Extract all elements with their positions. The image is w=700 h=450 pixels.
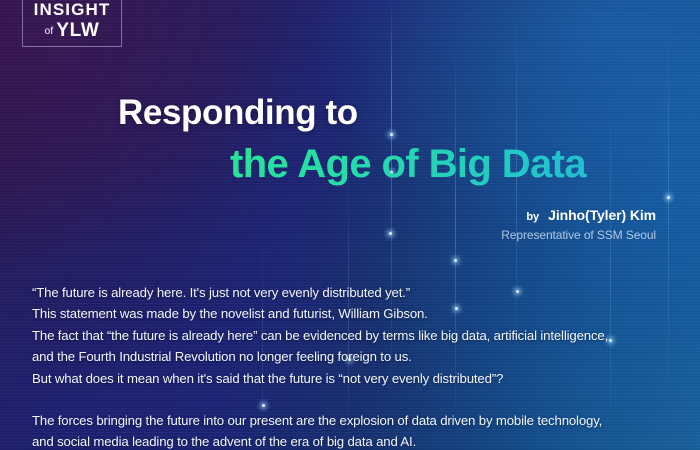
body-line: This statement was made by the novelist … (32, 303, 677, 324)
article-body: “The future is already here. It's just n… (32, 282, 677, 450)
poster-canvas: INSIGHT ofYLW Responding to the Age of B… (0, 0, 700, 450)
body-paragraph: “The future is already here. It's just n… (32, 282, 677, 389)
glow-node-icon (667, 196, 670, 199)
body-line: The fact that “the future is already her… (32, 325, 677, 346)
body-paragraph: The forces bringing the future into our … (32, 410, 677, 450)
title-line-1: Responding to (118, 92, 678, 134)
byline: byJinho(Tyler) Kim Representative of SSM… (501, 207, 656, 242)
title-line-2: the Age of Big Data (230, 140, 678, 188)
glow-node-icon (389, 232, 392, 235)
glow-node-icon (454, 259, 457, 262)
byline-author-role: Representative of SSM Seoul (501, 228, 656, 242)
logo-insight-of-ylw: INSIGHT ofYLW (22, 0, 122, 47)
body-line: But what does it mean when it's said tha… (32, 368, 677, 389)
body-line: “The future is already here. It's just n… (32, 282, 677, 303)
body-line: The forces bringing the future into our … (32, 410, 677, 431)
page-title: Responding to the Age of Big Data (118, 92, 678, 188)
byline-author-row: byJinho(Tyler) Kim (501, 207, 656, 225)
byline-author-name: Jinho(Tyler) Kim (548, 207, 656, 223)
body-line: and social media leading to the advent o… (32, 431, 677, 450)
byline-by-label: by (526, 211, 539, 223)
logo-insight-text: INSIGHT (23, 0, 121, 20)
logo-subtitle: ofYLW (23, 20, 121, 42)
body-line: and the Fourth Industrial Revolution no … (32, 346, 677, 367)
logo-of-text: of (45, 26, 54, 37)
logo-ylw-text: YLW (56, 20, 99, 41)
